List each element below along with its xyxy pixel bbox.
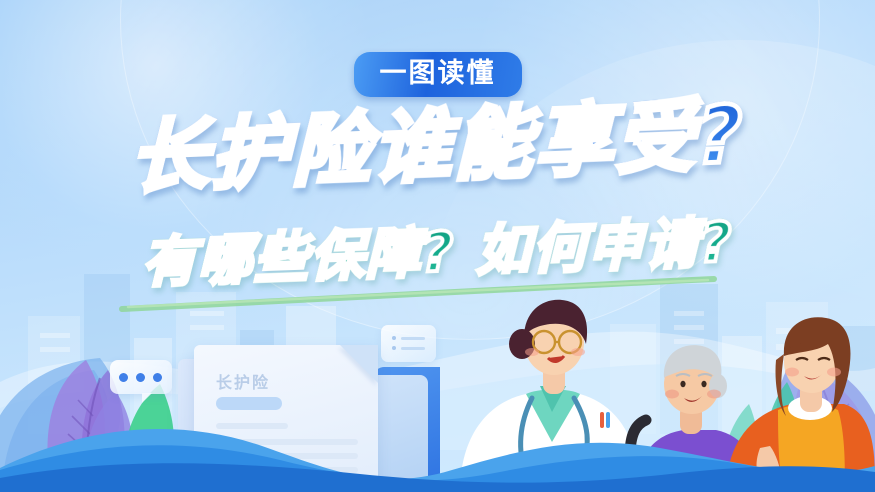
wave-dark [0, 456, 875, 492]
document-fold-icon [340, 345, 378, 383]
read-in-one-image-badge[interactable]: 一图读懂 [354, 52, 522, 97]
chat-bubble-icon [110, 360, 172, 394]
poster-canvas: 一图读懂 长护险谁能享受? 有哪些保障? 如何申请? [0, 0, 875, 492]
badge-label: 一图读懂 [380, 59, 496, 88]
document-title: 长护险 [216, 369, 270, 393]
